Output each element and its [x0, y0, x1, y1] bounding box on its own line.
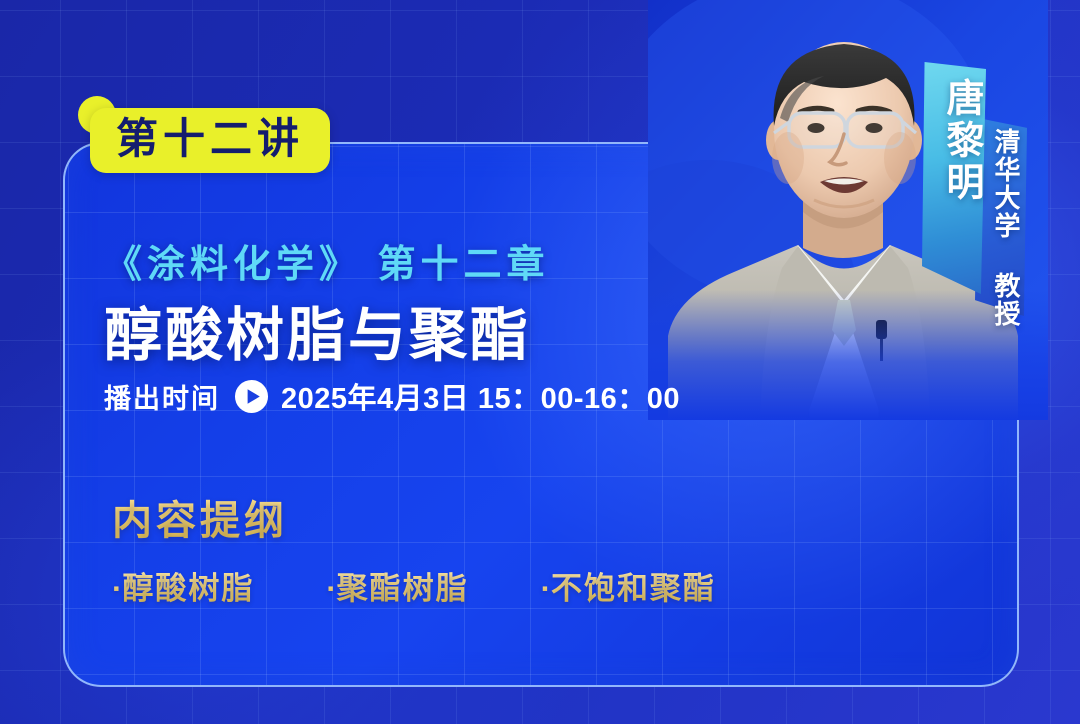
- outline-list: ·醇酸树脂 ·聚酯树脂 ·不饱和聚酯: [112, 563, 716, 608]
- outline-item-label-3: 不饱和聚酯: [551, 571, 716, 606]
- bullet-dot-2: ·: [326, 571, 336, 606]
- outline-heading: 内容提纲: [112, 488, 288, 546]
- bullet-dot-3: ·: [541, 571, 551, 606]
- airtime-value: 2025年4月3日 15：00-16：00: [281, 375, 680, 417]
- outline-item-1: ·醇酸树脂: [112, 563, 254, 608]
- speaker-affiliation: 清华大学 教授: [980, 128, 1020, 328]
- lecture-poster: 清华大学 教授 唐黎明 第十二讲 《涂料化学》 第十二章 醇酸树脂与聚酯 播出时…: [0, 0, 1080, 724]
- course-subtitle: 《涂料化学》 第十二章: [104, 233, 550, 288]
- play-icon[interactable]: [234, 379, 269, 414]
- chapter-badge-group: 第十二讲: [78, 96, 330, 173]
- chapter-badge-label: 第十二讲: [90, 108, 330, 173]
- bullet-dot-1: ·: [112, 571, 122, 606]
- airtime-row: 播出时间 2025年4月3日 15：00-16：00: [104, 375, 680, 417]
- outline-item-label-1: 醇酸树脂: [122, 571, 254, 606]
- outline-item-2: ·聚酯树脂: [326, 563, 468, 608]
- airtime-label: 播出时间: [104, 377, 220, 416]
- page-title: 醇酸树脂与聚酯: [104, 288, 531, 372]
- outline-item-3: ·不饱和聚酯: [541, 563, 716, 608]
- outline-item-label-2: 聚酯树脂: [337, 571, 469, 606]
- speaker-name: 唐黎明: [928, 78, 980, 204]
